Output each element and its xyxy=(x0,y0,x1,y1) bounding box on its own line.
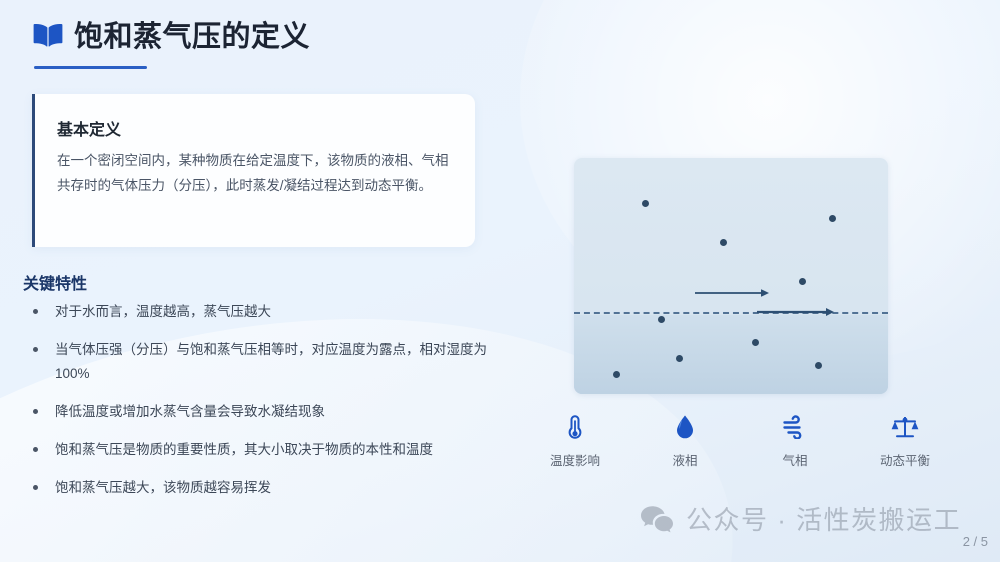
list-item: 当气体压强（分压）与饱和蒸气压相等时，对应温度为露点，相对湿度为100% xyxy=(29,338,494,386)
definition-card-title: 基本定义 xyxy=(57,116,121,140)
gas-molecule xyxy=(720,239,727,246)
definition-card-body: 在一个密闭空间内，某种物质在给定温度下，该物质的液相、气相共存时的气体压力（分压… xyxy=(57,148,451,198)
liquid-molecule xyxy=(658,316,665,323)
icon-label: 动态平衡 xyxy=(850,450,960,469)
icon-label: 气相 xyxy=(740,450,850,469)
water-drop-icon xyxy=(630,412,740,442)
liquid-gas-interface-line xyxy=(574,312,888,314)
features-heading: 关键特性 xyxy=(23,270,87,294)
gas-molecule xyxy=(799,278,806,285)
phase-icon-row: 温度影响 液相 气相 xyxy=(520,412,960,469)
page-number: 2 / 5 xyxy=(963,534,988,549)
liquid-phase-region xyxy=(574,315,888,394)
vapor-liquid-equilibrium-diagram xyxy=(574,158,888,394)
open-book-icon xyxy=(33,22,63,52)
slide-canvas: 饱和蒸气压的定义 基本定义 在一个密闭空间内，某种物质在给定温度下，该物质的液相… xyxy=(0,0,1000,562)
evaporation-arrow xyxy=(695,288,770,298)
list-item: 对于水而言，温度越高，蒸气压越大 xyxy=(29,300,494,324)
list-item: 降低温度或增加水蒸气含量会导致水凝结现象 xyxy=(29,400,494,424)
list-item: 饱和蒸气压是物质的重要性质，其大小取决于物质的本性和温度 xyxy=(29,438,494,462)
liquid-molecule xyxy=(613,371,620,378)
liquid-molecule xyxy=(752,339,759,346)
balance-scale-icon xyxy=(850,412,960,442)
thermometer-icon xyxy=(520,412,630,442)
wechat-icon xyxy=(640,504,674,534)
title-underline xyxy=(34,66,147,69)
slide-header: 饱和蒸气压的定义 xyxy=(33,22,310,52)
icon-label: 温度影响 xyxy=(520,450,630,469)
icon-item-liquid: 液相 xyxy=(630,412,740,469)
icon-item-temperature: 温度影响 xyxy=(520,412,630,469)
page-title: 饱和蒸气压的定义 xyxy=(74,23,310,52)
liquid-molecule xyxy=(815,362,822,369)
wind-icon xyxy=(740,412,850,442)
watermark-text: 公众号 · 活性炭搬运工 xyxy=(686,500,961,537)
icon-item-gas: 气相 xyxy=(740,412,850,469)
condensation-arrow xyxy=(757,307,835,317)
icon-item-equilibrium: 动态平衡 xyxy=(850,412,960,469)
watermark: 公众号 · 活性炭搬运工 xyxy=(640,500,961,537)
gas-molecule xyxy=(642,200,649,207)
gas-molecule xyxy=(829,215,836,222)
list-item: 饱和蒸气压越大，该物质越容易挥发 xyxy=(29,476,494,500)
icon-label: 液相 xyxy=(630,450,740,469)
definition-card: 基本定义 在一个密闭空间内，某种物质在给定温度下，该物质的液相、气相共存时的气体… xyxy=(32,94,475,247)
liquid-molecule xyxy=(676,355,683,362)
features-list: 对于水而言，温度越高，蒸气压越大 当气体压强（分压）与饱和蒸气压相等时，对应温度… xyxy=(29,300,494,514)
